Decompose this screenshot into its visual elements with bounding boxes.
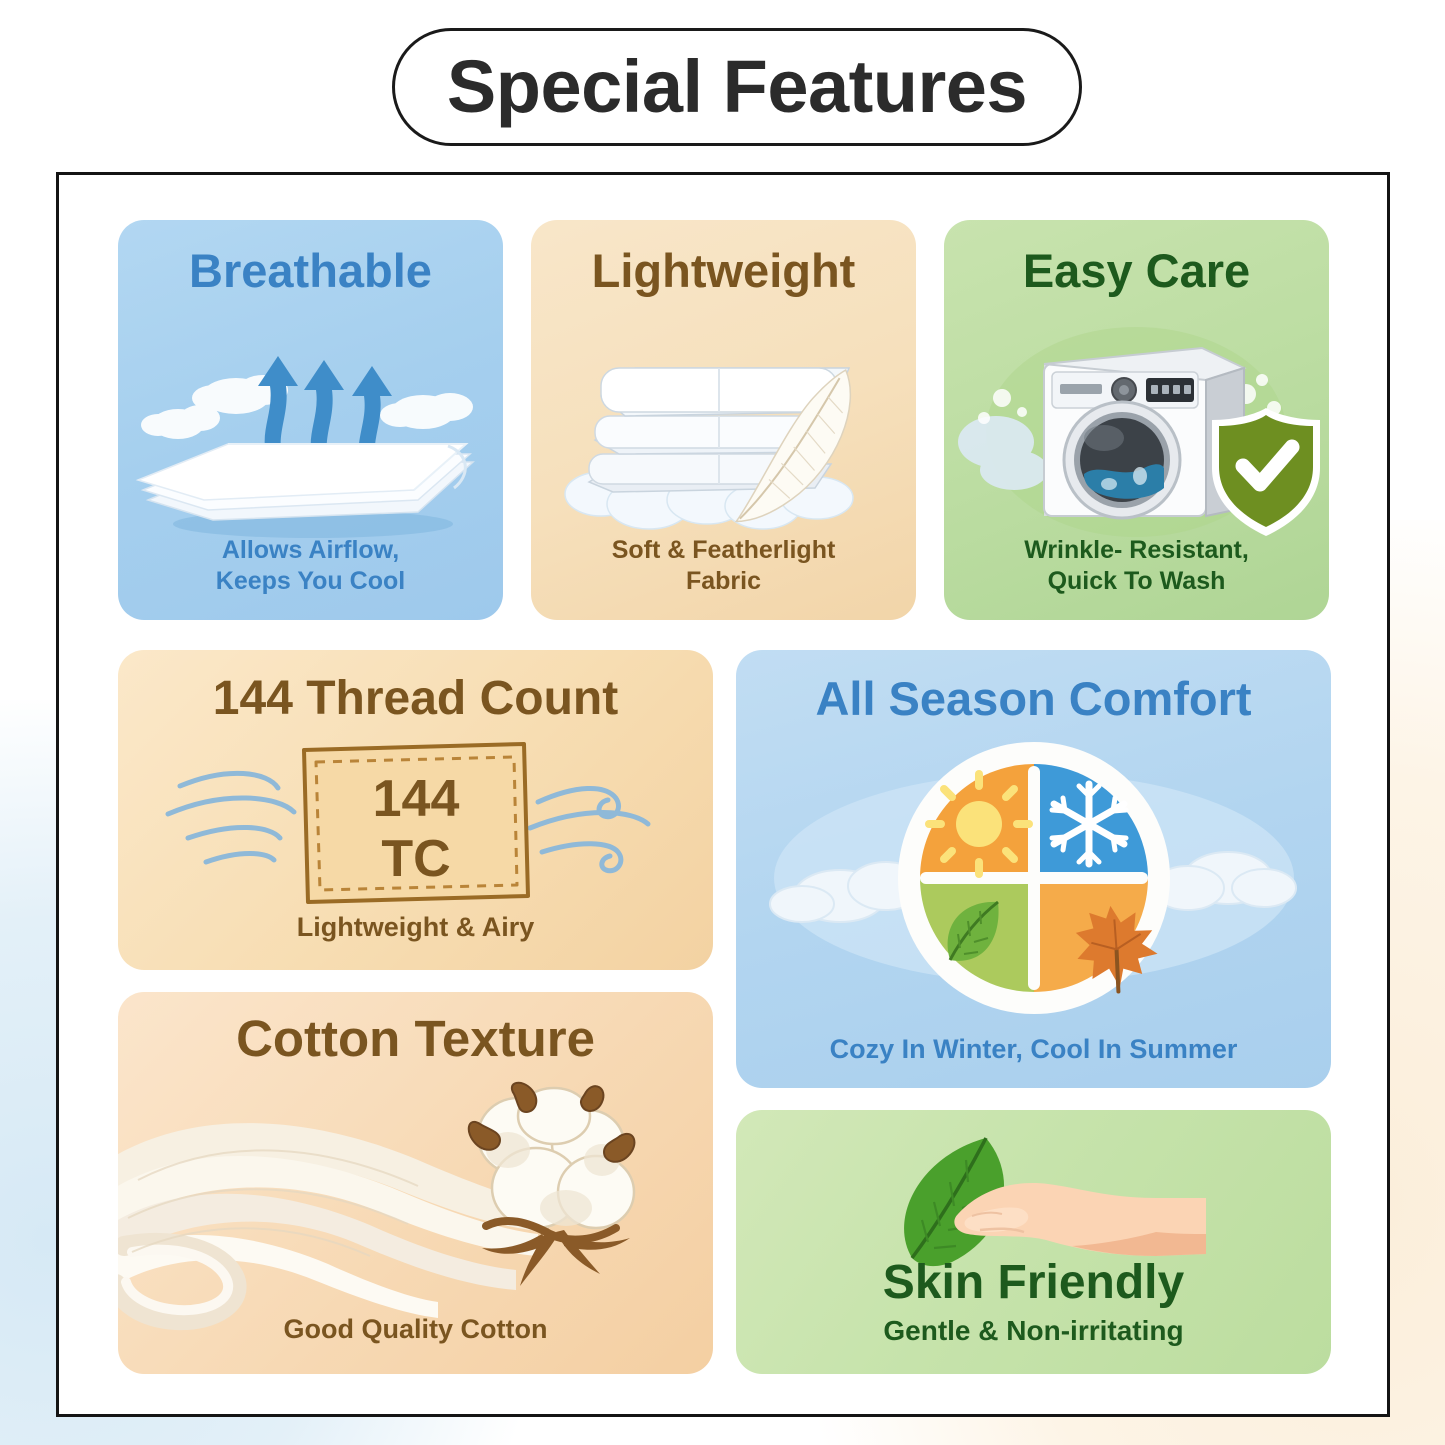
thread-count-value: 144 xyxy=(373,770,460,828)
fabric-tag-with-wind-swirls-icon: 144 TC xyxy=(118,730,713,920)
card-subtitle-easycare: Wrinkle- Resistant,Quick To Wash xyxy=(944,535,1329,596)
washing-machine-with-shield-check-icon xyxy=(944,302,1329,552)
feature-card-allseason[interactable]: All Season Comfort xyxy=(736,650,1331,1088)
card-title-threadcount: 144 Thread Count xyxy=(213,674,618,724)
card-title-lightweight: Lightweight xyxy=(592,246,856,295)
card-subtitle-breathable: Allows Airflow,Keeps You Cool xyxy=(118,535,503,596)
card-subtitle-threadcount: Lightweight & Airy xyxy=(118,911,713,944)
cotton-fibers-with-boll-icon xyxy=(118,1040,713,1340)
thread-count-unit: TC xyxy=(381,830,450,888)
feature-card-breathable[interactable]: Breathable Allows Airflow,Keeps You Cool xyxy=(118,220,503,620)
four-seasons-circle-icon xyxy=(736,728,1331,1033)
feature-card-lightweight[interactable]: Lightweight xyxy=(531,220,916,620)
card-subtitle-allseason: Cozy In Winter, Cool In Summer xyxy=(736,1033,1331,1066)
card-title-skin: Skin Friendly xyxy=(736,1258,1331,1308)
card-subtitle-skin: Gentle & Non-irritating xyxy=(736,1314,1331,1348)
card-subtitle-cotton: Good Quality Cotton xyxy=(118,1313,713,1346)
card-title-easycare: Easy Care xyxy=(1023,246,1250,295)
card-title-cotton: Cotton Texture xyxy=(236,1012,595,1066)
feature-card-skin[interactable]: Skin Friendly Gentle & Non-irritating xyxy=(736,1110,1331,1374)
feature-card-cotton[interactable]: Cotton Texture xyxy=(118,992,713,1374)
page-title-pill: Special Features xyxy=(392,28,1082,146)
feature-card-threadcount[interactable]: 144 Thread Count 144 TC Lightweight & Ai… xyxy=(118,650,713,970)
card-title-allseason: All Season Comfort xyxy=(815,674,1251,723)
stacked-sheets-with-feather-icon xyxy=(531,312,916,547)
card-title-breathable: Breathable xyxy=(189,246,432,295)
card-subtitle-lightweight: Soft & FeatherlightFabric xyxy=(531,535,916,596)
feature-card-easycare[interactable]: Easy Care xyxy=(944,220,1329,620)
folded-sheet-with-airflow-arrows-icon xyxy=(118,312,503,542)
page-title: Special Features xyxy=(447,50,1027,124)
